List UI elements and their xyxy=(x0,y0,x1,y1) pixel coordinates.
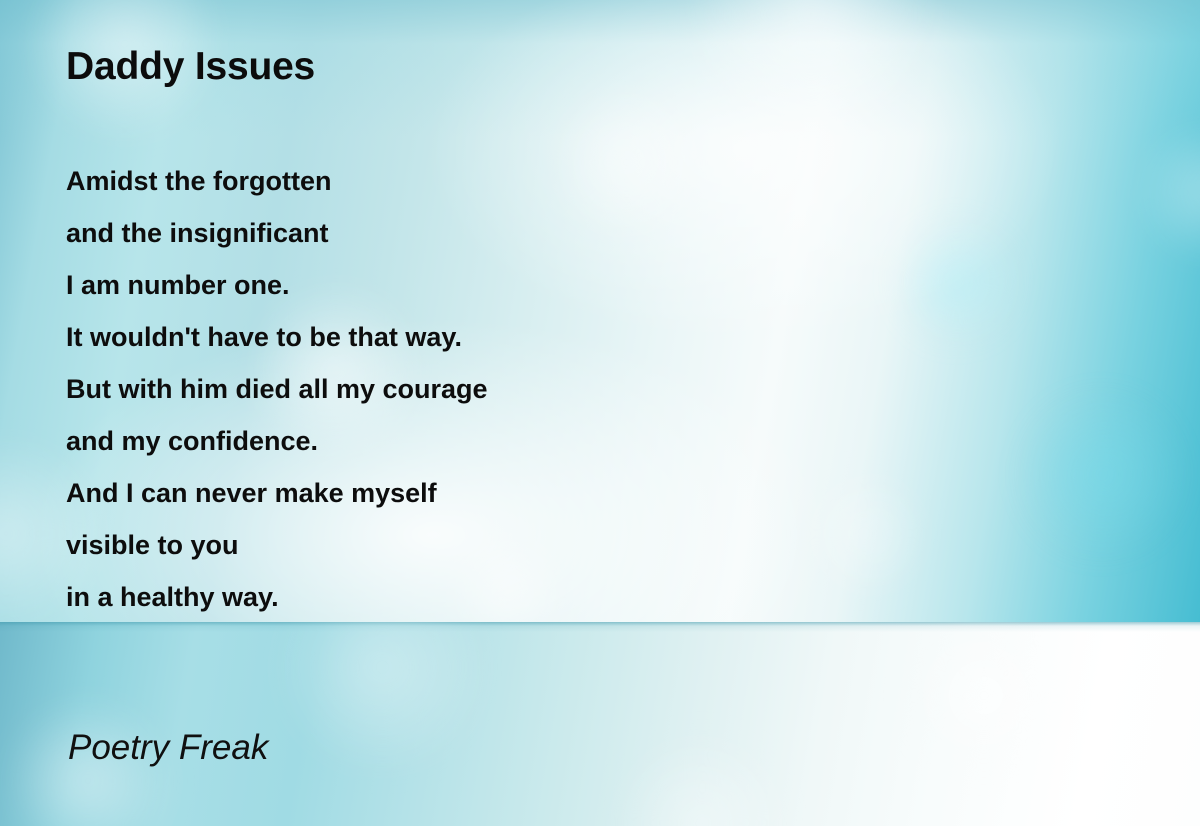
poem-line: I am number one. xyxy=(66,259,966,311)
poem-line: visible to you xyxy=(66,519,966,571)
poem-line: But with him died all my courage xyxy=(66,363,966,415)
poem-card: Daddy Issues Amidst the forgotten and th… xyxy=(0,0,1200,826)
poem-line: in a healthy way. xyxy=(66,571,966,622)
author-name: Poetry Freak xyxy=(68,729,268,768)
poem-line: Amidst the forgotten xyxy=(66,155,966,207)
poem-title: Daddy Issues xyxy=(66,47,315,86)
footer-bokeh xyxy=(0,622,1200,826)
poem-line: And I can never make myself xyxy=(66,467,966,519)
poem-line: and my confidence. xyxy=(66,415,966,467)
poem-panel: Daddy Issues Amidst the forgotten and th… xyxy=(0,0,1200,622)
poem-line: It wouldn't have to be that way. xyxy=(66,311,966,363)
poem-content: Daddy Issues Amidst the forgotten and th… xyxy=(0,0,1200,622)
poem-body: Amidst the forgotten and the insignifica… xyxy=(66,155,966,622)
poem-line: and the insignificant xyxy=(66,207,966,259)
attribution-band xyxy=(0,622,1200,826)
